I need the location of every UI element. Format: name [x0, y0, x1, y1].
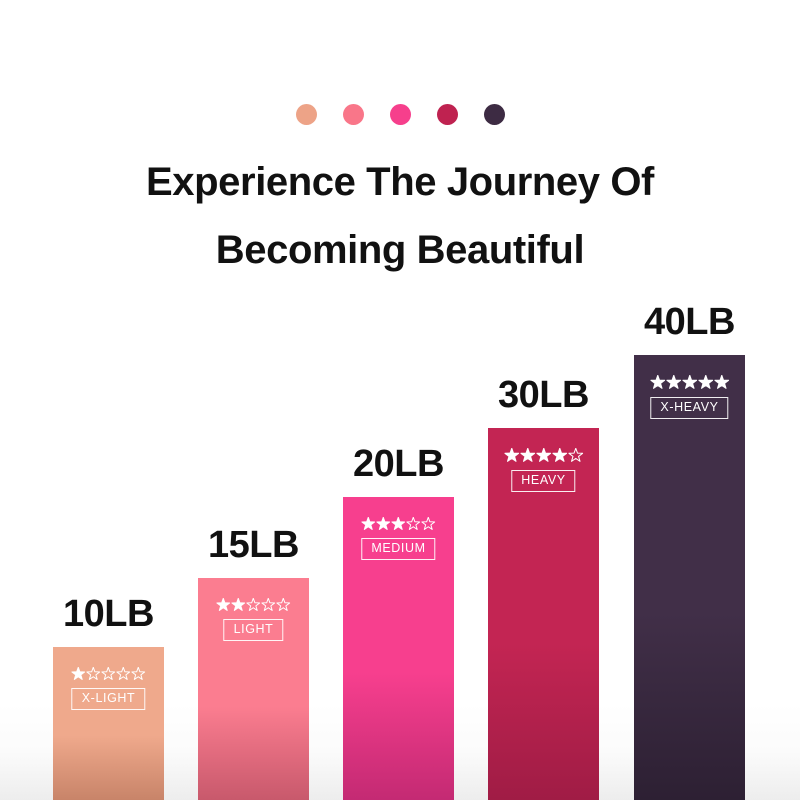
- bar-tag-label: LIGHT: [224, 619, 284, 641]
- bar-tag-label: X-HEAVY: [650, 397, 728, 419]
- page-title: Experience The Journey Of Becoming Beaut…: [0, 148, 800, 284]
- bar-tag-label: X-LIGHT: [72, 688, 146, 710]
- bar-column: X-HEAVY: [634, 355, 745, 800]
- star-filled-icon: [231, 598, 245, 612]
- dot-x-heavy: [484, 104, 505, 125]
- headline-line-1: Experience The Journey Of: [0, 148, 800, 216]
- bar-column: X-LIGHT: [53, 647, 164, 800]
- star-empty-icon: [261, 598, 275, 612]
- star-empty-icon: [406, 517, 420, 531]
- star-rating: [61, 667, 156, 681]
- star-filled-icon: [216, 598, 230, 612]
- bar-weight-label: 40LB: [644, 301, 735, 344]
- star-rating: [206, 598, 301, 612]
- star-filled-icon: [682, 375, 697, 390]
- color-swatch-row: [0, 104, 800, 125]
- dot-light: [343, 104, 364, 125]
- bar-x-light[interactable]: 10LBX-LIGHT: [53, 647, 164, 800]
- star-rating: [642, 375, 737, 390]
- bar-weight-label: 10LB: [63, 593, 154, 636]
- bar-weight-label: 15LB: [208, 524, 299, 567]
- star-filled-icon: [666, 375, 681, 390]
- star-empty-icon: [131, 667, 145, 681]
- bar-weight-label: 30LB: [498, 374, 589, 417]
- star-empty-icon: [421, 517, 435, 531]
- bar-column: HEAVY: [488, 428, 599, 800]
- bar-badge: LIGHT: [206, 598, 301, 641]
- star-empty-icon: [246, 598, 260, 612]
- star-filled-icon: [536, 448, 551, 463]
- star-filled-icon: [714, 375, 729, 390]
- bar-badge: HEAVY: [496, 448, 591, 492]
- bar-badge: MEDIUM: [351, 517, 446, 560]
- star-filled-icon: [504, 448, 519, 463]
- bar-medium[interactable]: 20LBMEDIUM: [343, 497, 454, 800]
- bar-column: MEDIUM: [343, 497, 454, 800]
- star-filled-icon: [552, 448, 567, 463]
- bar-weight-label: 20LB: [353, 443, 444, 486]
- bar-tag-label: HEAVY: [511, 470, 575, 492]
- dot-heavy: [437, 104, 458, 125]
- bar-badge: X-HEAVY: [642, 375, 737, 419]
- star-filled-icon: [698, 375, 713, 390]
- star-filled-icon: [520, 448, 535, 463]
- star-empty-icon: [276, 598, 290, 612]
- star-empty-icon: [86, 667, 100, 681]
- star-filled-icon: [376, 517, 390, 531]
- star-filled-icon: [391, 517, 405, 531]
- bar-badge: X-LIGHT: [61, 667, 156, 710]
- bar-column: LIGHT: [198, 578, 309, 800]
- bar-tag-label: MEDIUM: [361, 538, 435, 560]
- bar-light[interactable]: 15LBLIGHT: [198, 578, 309, 800]
- dot-medium: [390, 104, 411, 125]
- star-filled-icon: [71, 667, 85, 681]
- promo-banner: Experience The Journey Of Becoming Beaut…: [0, 0, 800, 800]
- star-empty-icon: [568, 448, 583, 463]
- star-empty-icon: [116, 667, 130, 681]
- star-filled-icon: [650, 375, 665, 390]
- star-rating: [351, 517, 446, 531]
- star-rating: [496, 448, 591, 463]
- dot-x-light: [296, 104, 317, 125]
- headline-line-2: Becoming Beautiful: [0, 216, 800, 284]
- star-filled-icon: [361, 517, 375, 531]
- bar-x-heavy[interactable]: 40LBX-HEAVY: [634, 355, 745, 800]
- star-empty-icon: [101, 667, 115, 681]
- bar-heavy[interactable]: 30LBHEAVY: [488, 428, 599, 800]
